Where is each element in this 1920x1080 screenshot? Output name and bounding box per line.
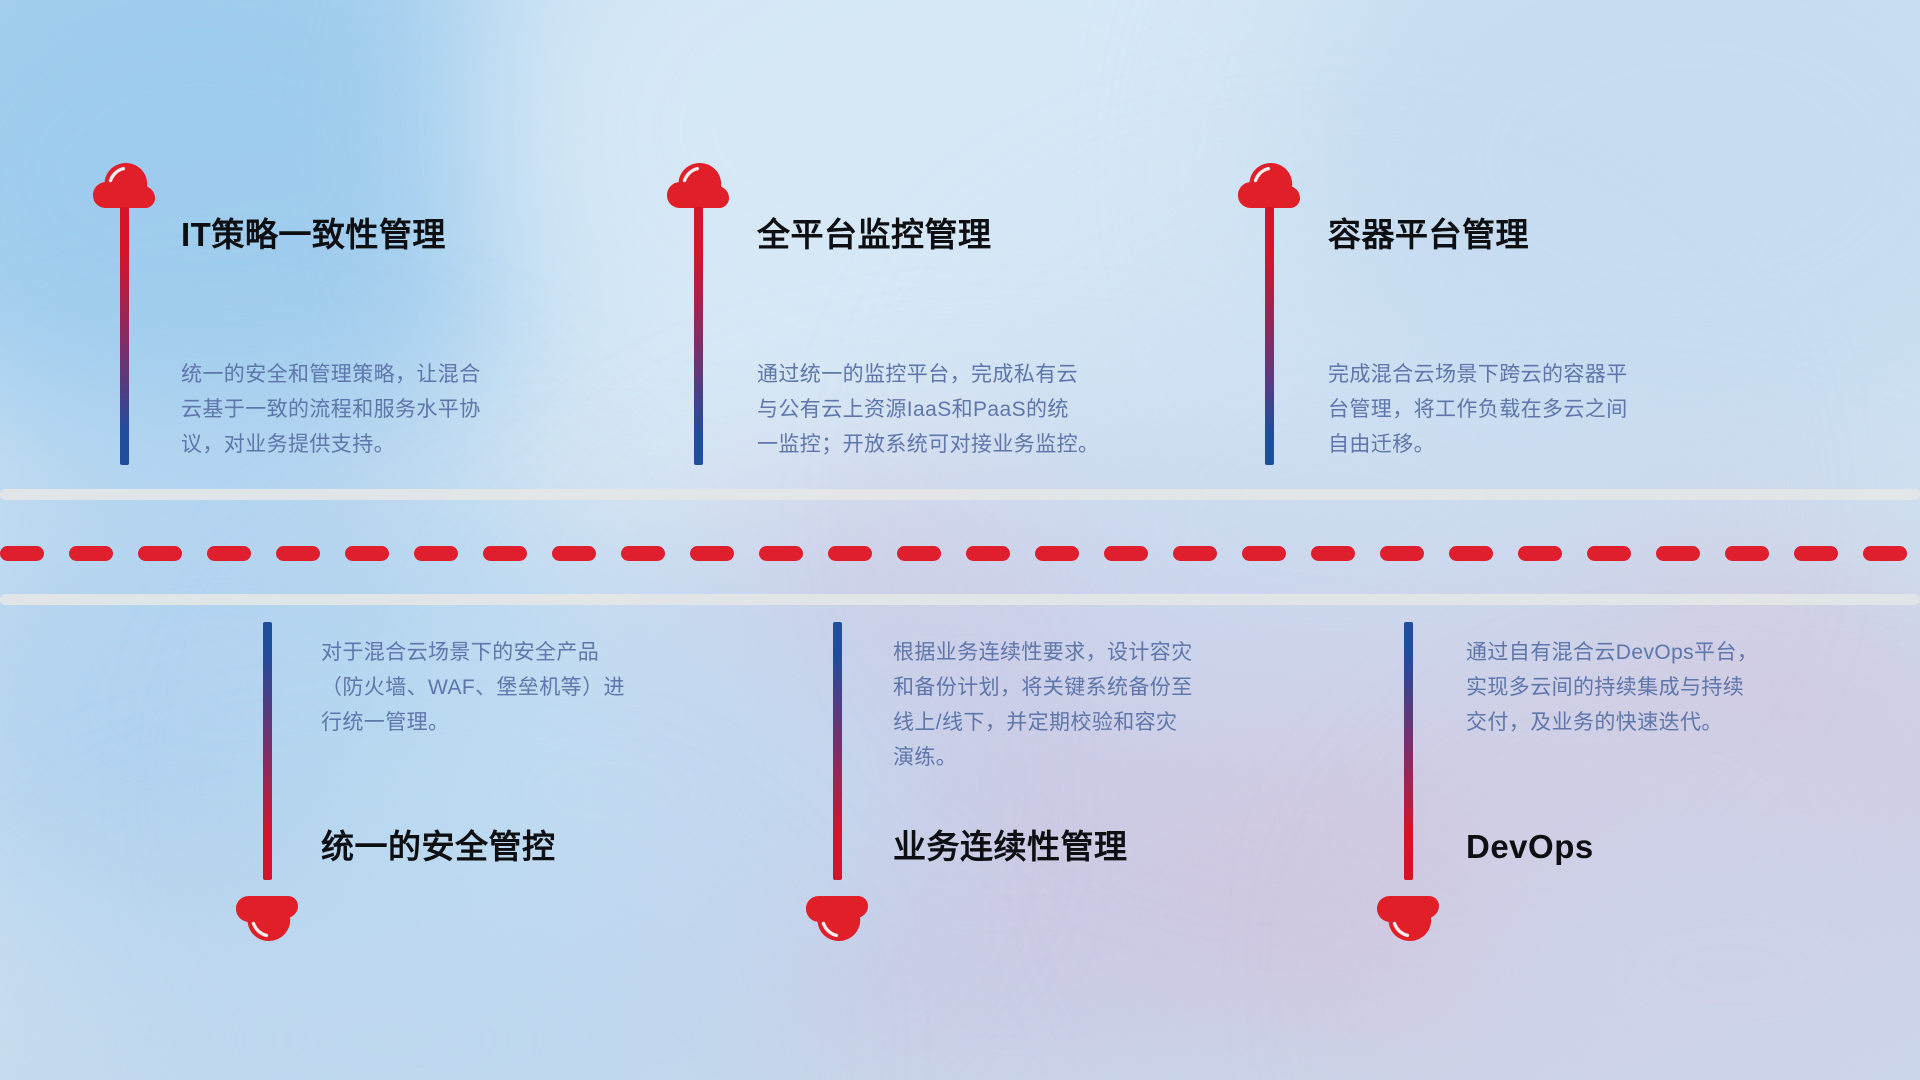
road-dash (207, 546, 251, 561)
milestone-stem (833, 622, 842, 880)
road-dash (1725, 546, 1769, 561)
road-dash (414, 546, 458, 561)
road-dash (1518, 546, 1562, 561)
road-dash (1104, 546, 1148, 561)
cloud-icon (93, 163, 155, 209)
road-dash (345, 546, 389, 561)
road-edge-top (0, 489, 1920, 500)
road-dash (828, 546, 872, 561)
milestone-title: DevOps (1466, 830, 1594, 863)
road-edge-bottom (0, 594, 1920, 605)
milestone-description: 根据业务连续性要求，设计容灾 和备份计划，将关键系统备份至 线上/线下，并定期校… (893, 635, 1333, 775)
milestone-description: 通过自有混合云DevOps平台， 实现多云间的持续集成与持续 交付，及业务的快速… (1466, 635, 1896, 740)
milestone-title: 全平台监控管理 (757, 218, 992, 251)
cloud-icon (236, 895, 298, 941)
road-dash (1587, 546, 1631, 561)
road-dash (897, 546, 941, 561)
road-dash (1035, 546, 1079, 561)
road-dash (552, 546, 596, 561)
road-dash (621, 546, 665, 561)
road-dash (1173, 546, 1217, 561)
road-dash (1449, 546, 1493, 561)
road-dash (483, 546, 527, 561)
milestone-title: IT策略一致性管理 (181, 218, 446, 251)
road-dash (0, 546, 44, 561)
road-dash (1380, 546, 1424, 561)
road-dash (690, 546, 734, 561)
milestone-description: 完成混合云场景下跨云的容器平 台管理，将工作负载在多云之间 自由迁移。 (1328, 357, 1768, 462)
road-dash (138, 546, 182, 561)
milestone-description: 统一的安全和管理策略，让混合 云基于一致的流程和服务水平协 议，对业务提供支持。 (181, 357, 611, 462)
milestone-title: 业务连续性管理 (893, 830, 1128, 863)
road-dash (69, 546, 113, 561)
road-dash (1656, 546, 1700, 561)
cloud-icon (1377, 895, 1439, 941)
milestone-stem (120, 207, 129, 465)
road-dash (759, 546, 803, 561)
milestone-stem (1404, 622, 1413, 880)
road-dash (966, 546, 1010, 561)
milestone-stem (694, 207, 703, 465)
road-dash (1242, 546, 1286, 561)
milestone-stem (263, 622, 272, 880)
milestone-stem (1265, 207, 1274, 465)
road-dash (276, 546, 320, 561)
cloud-icon (1238, 163, 1300, 209)
cloud-icon (667, 163, 729, 209)
road-dash (1311, 546, 1355, 561)
road-dashes (0, 545, 1920, 561)
milestone-title: 统一的安全管控 (321, 830, 556, 863)
milestone-description: 对于混合云场景下的安全产品 （防火墙、WAF、堡垒机等）进 行统一管理。 (321, 635, 751, 740)
milestone-title: 容器平台管理 (1328, 218, 1529, 251)
cloud-icon (806, 895, 868, 941)
road-dash (1863, 546, 1907, 561)
road-dash (1794, 546, 1838, 561)
milestone-description: 通过统一的监控平台，完成私有云 与公有云上资源IaaS和PaaS的统 一监控；开… (757, 357, 1207, 462)
infographic-canvas: IT策略一致性管理统一的安全和管理策略，让混合 云基于一致的流程和服务水平协 议… (0, 0, 1920, 1080)
